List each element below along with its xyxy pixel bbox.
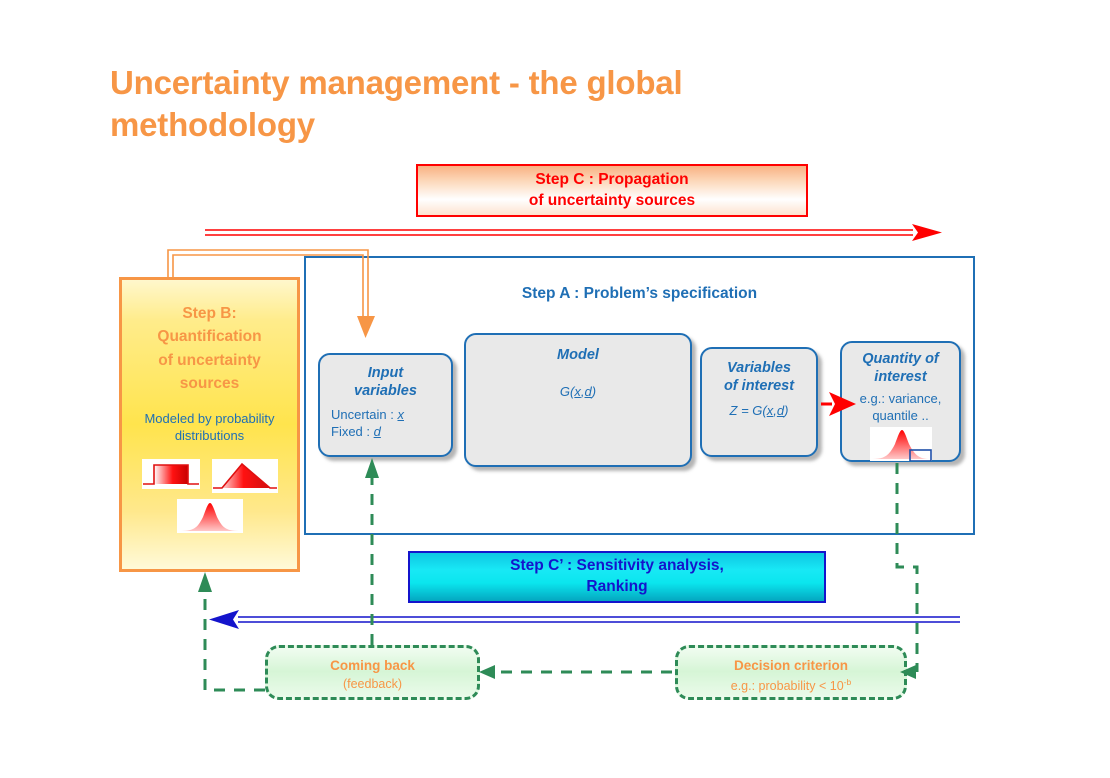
triangular-distribution-icon	[212, 459, 278, 493]
step-c-line1: Step C : Propagation	[535, 170, 688, 191]
step-c-prime-line1: Step C’ : Sensitivity analysis,	[510, 556, 724, 577]
step-b-subtitle-line2: distributions	[122, 428, 297, 445]
input-variables-header-line2: variables	[320, 382, 451, 400]
quantity-of-interest-header: Quantity of interest	[842, 350, 959, 386]
decision-to-coming-back-dashed-arrow	[479, 665, 672, 679]
decision-criterion-prefix: e.g.: probability < 10	[731, 679, 844, 693]
step-b-title-line3: of uncertainty	[122, 349, 297, 372]
variables-of-interest-formula: Z = G(x,d)	[702, 403, 816, 420]
sensitivity-return-arrow	[209, 610, 960, 629]
quantity-of-interest-line1: e.g.: variance,	[842, 391, 959, 408]
coming-back-box: Coming back (feedback)	[265, 645, 480, 700]
decision-criterion-subtitle: e.g.: probability < 10-b	[678, 677, 904, 693]
step-c-banner: Step C : Propagation of uncertainty sour…	[416, 164, 808, 217]
input-variables-header-line1: Input	[320, 364, 451, 382]
variables-of-interest-header-line1: Variables	[702, 359, 816, 377]
decision-criterion-exponent: -b	[844, 677, 852, 687]
input-variables-box: Input variables Uncertain : x Fixed : d	[318, 353, 453, 457]
quantity-of-interest-header-line2: interest	[842, 368, 959, 386]
coming-back-to-step-b-dashed-arrow	[198, 572, 265, 690]
decision-criterion-box: Decision criterion e.g.: probability < 1…	[675, 645, 907, 700]
step-b-title-line4: sources	[122, 372, 297, 395]
coming-back-subtitle: (feedback)	[268, 677, 477, 691]
distribution-thumbnails-row-1	[122, 459, 297, 493]
model-box: Model G(x,d)	[464, 333, 692, 467]
diagram-canvas: Uncertainty management - the global meth…	[0, 0, 1110, 778]
quantity-of-interest-header-line1: Quantity of	[842, 350, 959, 368]
variables-of-interest-header: Variables of interest	[702, 359, 816, 395]
step-b-title-line2: Quantification	[122, 325, 297, 348]
normal-distribution-icon	[177, 499, 243, 533]
variables-of-interest-box: Variables of interest Z = G(x,d)	[700, 347, 818, 457]
quantity-of-interest-line2: quantile ..	[842, 408, 959, 425]
distribution-thumbnails-row-2	[122, 499, 297, 533]
step-b-title-line1: Step B:	[122, 302, 297, 325]
input-variables-body: Uncertain : x Fixed : d	[320, 407, 451, 441]
page-title: Uncertainty management - the global meth…	[110, 62, 830, 146]
step-c-line2: of uncertainty sources	[529, 191, 695, 212]
quantile-distribution-icon	[870, 427, 932, 461]
step-b-subtitle-line1: Modeled by probability	[122, 411, 297, 428]
step-b-subtitle: Modeled by probability distributions	[122, 411, 297, 445]
uniform-distribution-icon	[142, 459, 200, 489]
propagation-arrow	[205, 224, 942, 241]
step-b-box: Step B: Quantification of uncertainty so…	[119, 277, 300, 572]
variables-of-interest-header-line2: of interest	[702, 377, 816, 395]
step-c-prime-banner: Step C’ : Sensitivity analysis, Ranking	[408, 551, 826, 603]
model-formula: G(x,d)	[466, 384, 690, 401]
step-b-title: Step B: Quantification of uncertainty so…	[122, 302, 297, 395]
quantity-of-interest-body: e.g.: variance, quantile ..	[842, 391, 959, 425]
input-variables-uncertain: Uncertain : x	[331, 407, 451, 424]
input-variables-header: Input variables	[320, 364, 451, 400]
decision-criterion-title: Decision criterion	[678, 658, 904, 673]
step-a-title: Step A : Problem’s specification	[306, 285, 973, 303]
step-c-prime-line2: Ranking	[586, 577, 647, 598]
quantity-of-interest-box: Quantity of interest e.g.: variance, qua…	[840, 341, 961, 462]
model-header: Model	[466, 346, 690, 364]
coming-back-title: Coming back	[268, 658, 477, 673]
input-variables-fixed: Fixed : d	[331, 424, 451, 441]
